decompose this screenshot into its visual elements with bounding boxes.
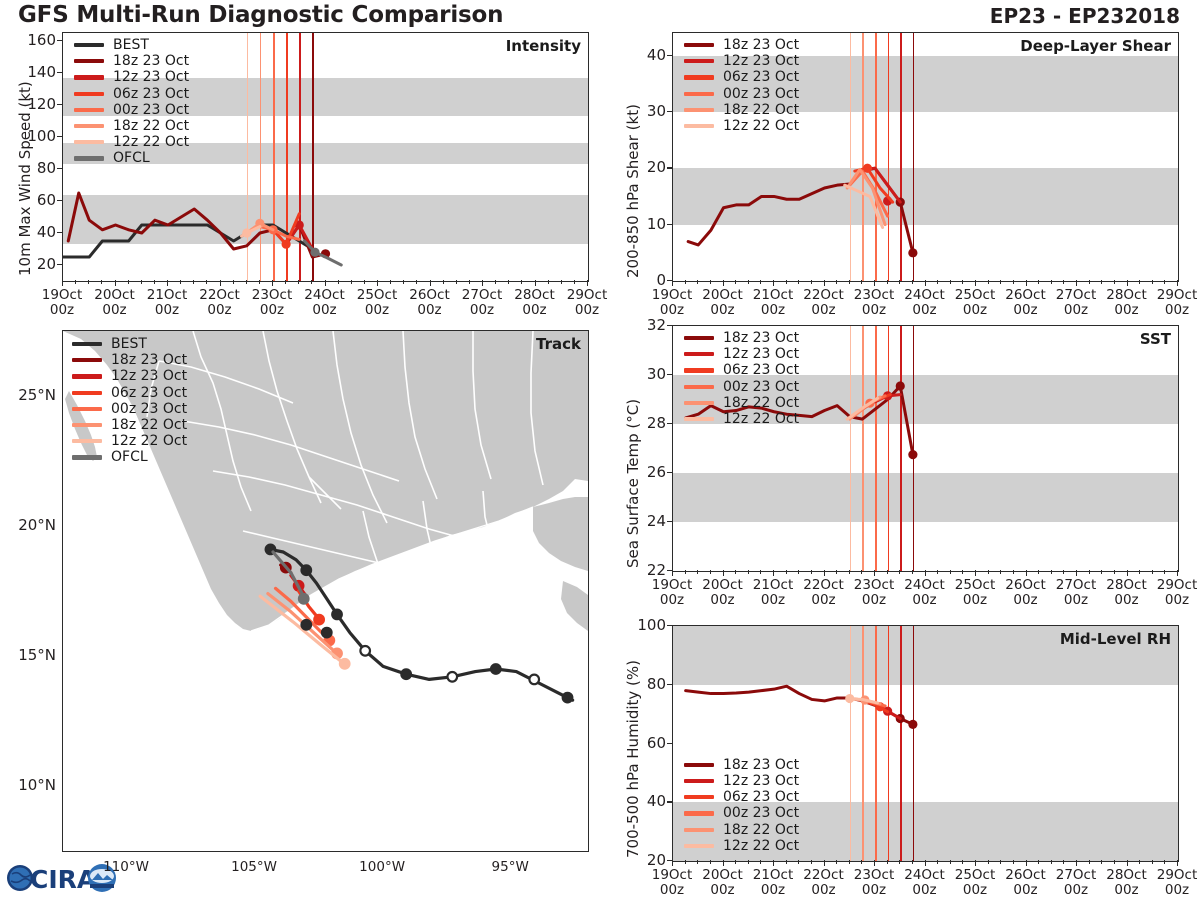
shear-panel-title: Deep-Layer Shear (1020, 37, 1171, 55)
y-tick-label: 40 (626, 46, 666, 64)
x-tick-mark (773, 280, 774, 286)
legend-item[interactable]: 00z 23 Oct (684, 379, 799, 395)
legend-label: 12z 23 Oct (723, 346, 799, 362)
x-tick-mark (925, 280, 926, 286)
x-tick-hour: 00z (199, 303, 240, 318)
legend-color-swatch (684, 352, 714, 356)
legend-label: 12z 23 Oct (111, 368, 187, 384)
x-minor-tick (1089, 570, 1090, 574)
x-minor-tick (786, 860, 787, 864)
legend-item[interactable]: 12z 23 Oct (72, 368, 187, 384)
lon-tick-label: 95°W (492, 860, 529, 875)
x-tick-label: 23Oct00z (854, 288, 895, 318)
legend-color-swatch (684, 75, 714, 79)
x-tick-label: 20Oct00z (702, 578, 743, 608)
legend-item[interactable]: 06z 23 Oct (684, 789, 799, 805)
y-tick-mark (667, 55, 673, 56)
x-tick-day: 22Oct (803, 578, 844, 593)
x-tick-label: 28Oct00z (514, 288, 555, 318)
track-point (360, 646, 370, 656)
track-point (322, 628, 332, 638)
x-minor-tick (861, 570, 862, 574)
x-minor-tick (962, 280, 963, 284)
x-tick-hour: 00z (955, 303, 996, 318)
x-minor-tick (521, 280, 522, 284)
legend-color-swatch (684, 811, 714, 815)
y-tick-label: 80 (16, 159, 56, 177)
x-tick-hour: 00z (904, 303, 945, 318)
x-minor-tick (1164, 860, 1165, 864)
x-minor-tick (685, 860, 686, 864)
x-tick-label: 26Oct00z (409, 288, 450, 318)
legend-item[interactable]: 06z 23 Oct (72, 385, 187, 401)
x-minor-tick (760, 860, 761, 864)
x-tick-day: 21Oct (753, 578, 794, 593)
x-tick-hour: 00z (854, 593, 895, 608)
lat-tick-label: 15°N (2, 646, 56, 664)
storm-id-title: EP23 - EP232018 (990, 4, 1180, 28)
x-tick-mark (62, 280, 63, 286)
y-tick-mark (667, 743, 673, 744)
legend-color-swatch (74, 140, 104, 144)
x-minor-tick (760, 280, 761, 284)
x-minor-tick (988, 860, 989, 864)
x-tick-label: 26Oct00z (1005, 288, 1046, 318)
x-tick-day: 19Oct (652, 578, 693, 593)
legend-color-swatch (72, 439, 102, 443)
x-tick-day: 21Oct (753, 288, 794, 303)
x-minor-tick (950, 280, 951, 284)
legend-item[interactable]: 00z 23 Oct (74, 102, 189, 118)
legend-color-swatch (72, 342, 102, 346)
series-marker (896, 381, 905, 390)
legend-label: 12z 22 Oct (111, 433, 187, 449)
legend-color-swatch (684, 59, 714, 63)
x-tick-day: 19Oct (42, 288, 83, 303)
legend-color-swatch (684, 828, 714, 832)
x-minor-tick (988, 280, 989, 284)
x-tick-day: 20Oct (702, 868, 743, 883)
x-tick-hour: 00z (147, 303, 188, 318)
sst-panel-title: SST (1140, 330, 1171, 348)
x-tick-day: 21Oct (753, 868, 794, 883)
legend-label: 00z 23 Oct (111, 401, 187, 417)
legend-label: BEST (113, 37, 149, 53)
x-minor-tick (128, 280, 129, 284)
y-tick-mark (667, 423, 673, 424)
x-minor-tick (154, 280, 155, 284)
x-tick-day: 20Oct (702, 288, 743, 303)
x-minor-tick (1063, 860, 1064, 864)
x-tick-mark (220, 280, 221, 286)
legend-item[interactable]: 00z 23 Oct (684, 805, 799, 821)
legend-label: 06z 23 Oct (723, 789, 799, 805)
series-line (847, 398, 877, 419)
y-tick-mark (57, 104, 63, 105)
y-tick-mark (667, 801, 673, 802)
x-minor-tick (849, 860, 850, 864)
x-minor-tick (508, 280, 509, 284)
legend-item[interactable]: 12z 22 Oct (684, 838, 799, 854)
x-tick-day: 25Oct (955, 578, 996, 593)
legend-color-swatch (684, 844, 714, 848)
legend-label: 12z 22 Oct (723, 838, 799, 854)
series-marker (282, 240, 291, 249)
legend-label: 12z 23 Oct (113, 69, 189, 85)
legend-item[interactable]: 18z 22 Oct (684, 102, 799, 118)
lon-tick-label: 110°W (103, 860, 149, 875)
series-marker (908, 720, 917, 729)
x-minor-tick (298, 280, 299, 284)
x-tick-day: 22Oct (803, 868, 844, 883)
legend-label: 06z 23 Oct (723, 69, 799, 85)
x-tick-day: 23Oct (252, 288, 293, 303)
x-minor-tick (1038, 860, 1039, 864)
x-minor-tick (988, 570, 989, 574)
x-tick-hour: 00z (567, 303, 608, 318)
x-tick-hour: 00z (652, 593, 693, 608)
x-tick-hour: 00z (955, 883, 996, 898)
track-point (340, 659, 350, 669)
x-tick-day: 26Oct (1005, 288, 1046, 303)
x-tick-day: 26Oct (1005, 868, 1046, 883)
legend-label: 06z 23 Oct (723, 362, 799, 378)
legend-item[interactable]: 12z 23 Oct (684, 53, 799, 69)
x-tick-label: 29Oct00z (1157, 288, 1198, 318)
x-minor-tick (861, 280, 862, 284)
x-tick-mark (723, 570, 724, 576)
y-tick-label: 80 (626, 675, 666, 693)
legend-item[interactable]: 06z 23 Oct (684, 69, 799, 85)
x-tick-label: 24Oct00z (904, 288, 945, 318)
x-tick-mark (773, 570, 774, 576)
legend-color-swatch (684, 779, 714, 783)
legend-color-swatch (72, 374, 102, 378)
x-minor-tick (836, 860, 837, 864)
x-minor-tick (364, 280, 365, 284)
legend-item[interactable]: 18z 23 Oct (74, 53, 189, 69)
x-tick-day: 28Oct (1106, 288, 1147, 303)
legend-color-swatch (684, 108, 714, 112)
x-tick-label: 28Oct00z (1106, 288, 1147, 318)
legend-item[interactable]: OFCL (74, 150, 189, 166)
x-tick-hour: 00z (1157, 883, 1198, 898)
x-minor-tick (1013, 570, 1014, 574)
x-minor-tick (735, 280, 736, 284)
x-tick-day: 27Oct (1056, 288, 1097, 303)
x-tick-label: 26Oct00z (1005, 578, 1046, 608)
x-minor-tick (1051, 860, 1052, 864)
legend-item[interactable]: 00z 23 Oct (684, 86, 799, 102)
x-tick-mark (975, 860, 976, 866)
x-minor-tick (748, 860, 749, 864)
x-minor-tick (937, 860, 938, 864)
x-minor-tick (1114, 570, 1115, 574)
x-tick-label: 29Oct00z (1157, 868, 1198, 898)
x-minor-tick (937, 280, 938, 284)
x-tick-hour: 00z (1005, 883, 1046, 898)
x-minor-tick (285, 280, 286, 284)
x-tick-mark (1026, 280, 1027, 286)
x-tick-mark (824, 280, 825, 286)
legend-item[interactable]: 18z 23 Oct (684, 330, 799, 346)
y-tick-mark (667, 521, 673, 522)
x-tick-hour: 00z (702, 303, 743, 318)
legend-label: 06z 23 Oct (111, 385, 187, 401)
legend-label: 06z 23 Oct (113, 86, 189, 102)
legend-item[interactable]: 18z 22 Oct (72, 417, 187, 433)
x-minor-tick (811, 280, 812, 284)
y-tick-mark (57, 72, 63, 73)
legend-color-swatch (684, 124, 714, 128)
track-point (301, 565, 311, 575)
x-minor-tick (1013, 860, 1014, 864)
x-tick-hour: 00z (904, 883, 945, 898)
x-minor-tick (1038, 280, 1039, 284)
y-tick-label: 20 (626, 158, 666, 176)
x-tick-label: 23Oct00z (252, 288, 293, 318)
x-minor-tick (887, 570, 888, 574)
legend-label: 18z 22 Oct (111, 417, 187, 433)
x-tick-mark (272, 280, 273, 286)
x-minor-tick (912, 860, 913, 864)
x-minor-tick (849, 570, 850, 574)
legend-item[interactable]: 12z 22 Oct (684, 118, 799, 134)
legend-color-swatch (684, 368, 714, 372)
x-tick-day: 21Oct (147, 288, 188, 303)
x-tick-hour: 00z (514, 303, 555, 318)
y-tick-label: 100 (16, 127, 56, 145)
legend-color-swatch (72, 407, 102, 411)
x-tick-mark (672, 280, 673, 286)
x-minor-tick (1139, 860, 1140, 864)
lon-tick-label: 105°W (231, 860, 277, 875)
x-tick-label: 21Oct00z (753, 868, 794, 898)
x-tick-label: 22Oct00z (803, 288, 844, 318)
x-tick-day: 20Oct (94, 288, 135, 303)
x-minor-tick (710, 860, 711, 864)
track-point (332, 610, 342, 620)
y-tick-mark (667, 684, 673, 685)
x-tick-mark (723, 860, 724, 866)
x-minor-tick (141, 280, 142, 284)
x-tick-hour: 00z (1106, 883, 1147, 898)
x-minor-tick (1152, 570, 1153, 574)
legend-color-swatch (684, 336, 714, 340)
y-tick-mark (667, 374, 673, 375)
legend-label: 18z 23 Oct (723, 37, 799, 53)
legend-color-swatch (74, 156, 104, 160)
x-tick-mark (1127, 280, 1128, 286)
x-tick-label: 25Oct00z (955, 868, 996, 898)
x-tick-hour: 00z (904, 593, 945, 608)
x-tick-mark (535, 280, 536, 286)
x-tick-label: 22Oct00z (199, 288, 240, 318)
y-tick-label: 100 (626, 616, 666, 634)
x-tick-label: 22Oct00z (803, 868, 844, 898)
x-minor-tick (246, 280, 247, 284)
shear-y-axis-label: 200-850 hPa Shear (kt) (624, 104, 642, 278)
y-tick-mark (57, 200, 63, 201)
x-tick-mark (773, 860, 774, 866)
x-minor-tick (233, 280, 234, 284)
x-minor-tick (887, 280, 888, 284)
track-legend: BEST18z 23 Oct12z 23 Oct06z 23 Oct00z 23… (72, 336, 187, 466)
x-tick-hour: 00z (1056, 883, 1097, 898)
x-tick-mark (1076, 570, 1077, 576)
x-minor-tick (899, 860, 900, 864)
x-minor-tick (786, 570, 787, 574)
x-minor-tick (811, 860, 812, 864)
legend-item[interactable]: BEST (72, 336, 187, 352)
legend-item[interactable]: BEST (74, 37, 189, 53)
x-minor-tick (1089, 860, 1090, 864)
legend-label: 00z 23 Oct (113, 102, 189, 118)
x-tick-label: 27Oct00z (1056, 868, 1097, 898)
track-line (260, 596, 347, 666)
x-minor-tick (798, 860, 799, 864)
y-tick-mark (57, 40, 63, 41)
legend-label: 12z 22 Oct (113, 134, 189, 150)
x-minor-tick (836, 570, 837, 574)
x-tick-hour: 00z (652, 883, 693, 898)
series-marker (845, 694, 854, 703)
legend-label: 18z 23 Oct (723, 330, 799, 346)
x-tick-mark (874, 280, 875, 286)
legend-item[interactable]: 00z 23 Oct (72, 401, 187, 417)
lat-tick-label: 10°N (2, 776, 56, 794)
legend-item[interactable]: 12z 22 Oct (684, 411, 799, 427)
legend-label: 00z 23 Oct (723, 86, 799, 102)
x-minor-tick (206, 280, 207, 284)
x-tick-hour: 00z (854, 883, 895, 898)
x-tick-mark (167, 280, 168, 286)
x-tick-day: 28Oct (1106, 868, 1147, 883)
x-tick-hour: 00z (357, 303, 398, 318)
legend-label: 00z 23 Oct (723, 379, 799, 395)
x-minor-tick (75, 280, 76, 284)
x-tick-mark (482, 280, 483, 286)
legend-color-swatch (684, 795, 714, 799)
legend-item[interactable]: 12z 23 Oct (684, 773, 799, 789)
y-tick-label: 120 (16, 95, 56, 113)
legend-label: 12z 22 Oct (723, 411, 799, 427)
y-tick-label: 40 (626, 792, 666, 810)
x-minor-tick (1101, 280, 1102, 284)
track-point (563, 693, 573, 703)
x-tick-day: 23Oct (854, 288, 895, 303)
x-minor-tick (574, 280, 575, 284)
legend-item[interactable]: 18z 22 Oct (684, 822, 799, 838)
x-tick-label: 19Oct00z (42, 288, 83, 318)
x-tick-hour: 00z (304, 303, 345, 318)
x-tick-mark (430, 280, 431, 286)
y-tick-label: 28 (626, 414, 666, 432)
x-tick-day: 24Oct (904, 288, 945, 303)
x-minor-tick (962, 570, 963, 574)
legend-label: 18z 22 Oct (723, 395, 799, 411)
x-minor-tick (1139, 570, 1140, 574)
legend-color-swatch (684, 385, 714, 389)
x-tick-mark (824, 860, 825, 866)
x-tick-hour: 00z (803, 593, 844, 608)
x-tick-hour: 00z (1056, 303, 1097, 318)
legend-item[interactable]: 18z 22 Oct (74, 118, 189, 134)
legend-item[interactable]: 06z 23 Oct (684, 362, 799, 378)
x-minor-tick (495, 280, 496, 284)
x-tick-label: 19Oct00z (652, 868, 693, 898)
legend-color-swatch (74, 43, 104, 47)
y-tick-mark (57, 264, 63, 265)
x-minor-tick (193, 280, 194, 284)
legend-item[interactable]: 12z 22 Oct (74, 134, 189, 150)
legend-item[interactable]: 06z 23 Oct (74, 86, 189, 102)
legend-item[interactable]: 18z 23 Oct (72, 352, 187, 368)
x-tick-label: 29Oct00z (1157, 578, 1198, 608)
x-tick-mark (1127, 570, 1128, 576)
series-marker (908, 248, 917, 257)
x-minor-tick (1000, 570, 1001, 574)
intensity-panel-title: Intensity (506, 37, 581, 55)
x-minor-tick (259, 280, 260, 284)
x-minor-tick (811, 570, 812, 574)
x-minor-tick (1114, 280, 1115, 284)
x-tick-mark (975, 280, 976, 286)
legend-item[interactable]: 12z 22 Oct (72, 433, 187, 449)
x-minor-tick (937, 570, 938, 574)
x-minor-tick (861, 860, 862, 864)
x-tick-label: 20Oct00z (702, 288, 743, 318)
y-tick-label: 10 (626, 215, 666, 233)
x-tick-label: 27Oct00z (462, 288, 503, 318)
x-tick-hour: 00z (1056, 593, 1097, 608)
y-tick-label: 140 (16, 63, 56, 81)
x-minor-tick (101, 280, 102, 284)
legend-item[interactable]: 18z 23 Oct (684, 37, 799, 53)
legend-item[interactable]: 18z 22 Oct (684, 395, 799, 411)
x-minor-tick (962, 860, 963, 864)
sst-legend: 18z 23 Oct12z 23 Oct06z 23 Oct00z 23 Oct… (684, 330, 799, 427)
track-point (529, 675, 539, 685)
legend-color-swatch (74, 92, 104, 96)
x-tick-mark (975, 570, 976, 576)
legend-color-swatch (74, 59, 104, 63)
x-tick-day: 22Oct (199, 288, 240, 303)
x-tick-mark (925, 570, 926, 576)
x-minor-tick (403, 280, 404, 284)
legend-color-swatch (684, 92, 714, 96)
x-tick-mark (115, 280, 116, 286)
x-tick-label: 19Oct00z (652, 288, 693, 318)
legend-label: 18z 23 Oct (111, 352, 187, 368)
legend-color-swatch (74, 108, 104, 112)
legend-item[interactable]: OFCL (72, 449, 187, 465)
x-tick-label: 27Oct00z (1056, 288, 1097, 318)
legend-item[interactable]: 12z 23 Oct (74, 69, 189, 85)
x-tick-hour: 00z (1106, 593, 1147, 608)
x-tick-label: 21Oct00z (147, 288, 188, 318)
page-title: GFS Multi-Run Diagnostic Comparison (18, 2, 503, 28)
legend-item[interactable]: 18z 23 Oct (684, 757, 799, 773)
x-tick-hour: 00z (803, 883, 844, 898)
x-tick-label: 29Oct00z (567, 288, 608, 318)
x-minor-tick (1101, 570, 1102, 574)
legend-item[interactable]: 12z 23 Oct (684, 346, 799, 362)
x-tick-day: 26Oct (409, 288, 450, 303)
x-minor-tick (899, 280, 900, 284)
x-tick-mark (325, 280, 326, 286)
x-tick-day: 27Oct (1056, 578, 1097, 593)
